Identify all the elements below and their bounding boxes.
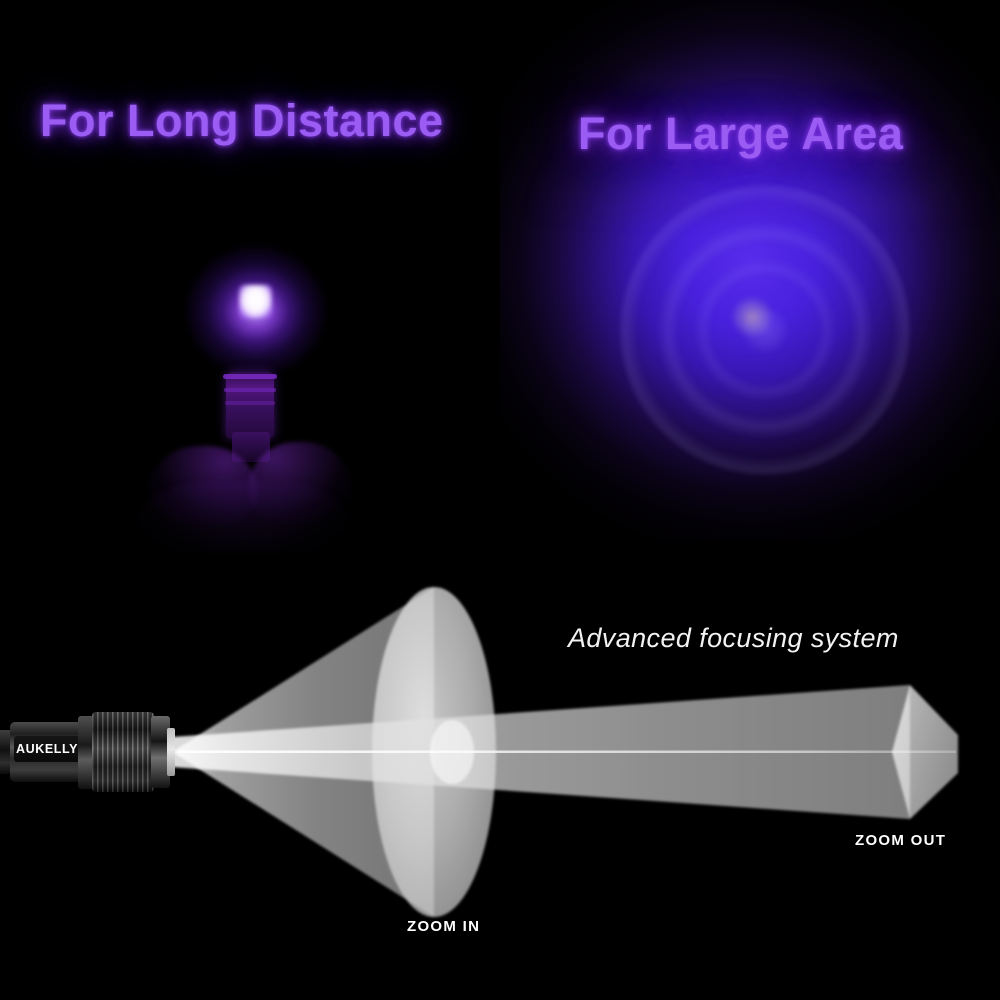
uv-spot-core xyxy=(239,285,272,318)
flashlight-body-ring xyxy=(225,401,275,405)
product-infographic: For Long Distance For Large Area xyxy=(0,0,1000,1000)
label-zoom-in: ZOOM IN xyxy=(407,918,480,935)
flashlight-body-ring xyxy=(224,388,276,392)
beam-axis-line xyxy=(178,751,956,754)
heading-for-long-distance: For Long Distance xyxy=(40,95,444,147)
panel-large-area xyxy=(500,0,1000,565)
flashlight-bezel-ring xyxy=(223,374,277,379)
flashlight-brand-label: AUKELLY xyxy=(14,736,80,762)
forearm-shadow xyxy=(136,480,350,554)
panel-long-distance xyxy=(0,0,500,565)
flashlight-diagram: AUKELLY xyxy=(0,700,178,806)
caption-advanced-focusing-system: Advanced focusing system xyxy=(568,623,899,654)
flashlight-silhouette-long-distance xyxy=(120,368,350,553)
label-zoom-out: ZOOM OUT xyxy=(855,832,946,849)
heading-for-large-area: For Large Area xyxy=(578,108,903,160)
flashlight-lens xyxy=(167,728,175,776)
flashlight-head-icon xyxy=(226,372,274,438)
flashlight-knurled-head xyxy=(92,712,154,792)
flood-beam-center-hotspot xyxy=(732,298,772,336)
